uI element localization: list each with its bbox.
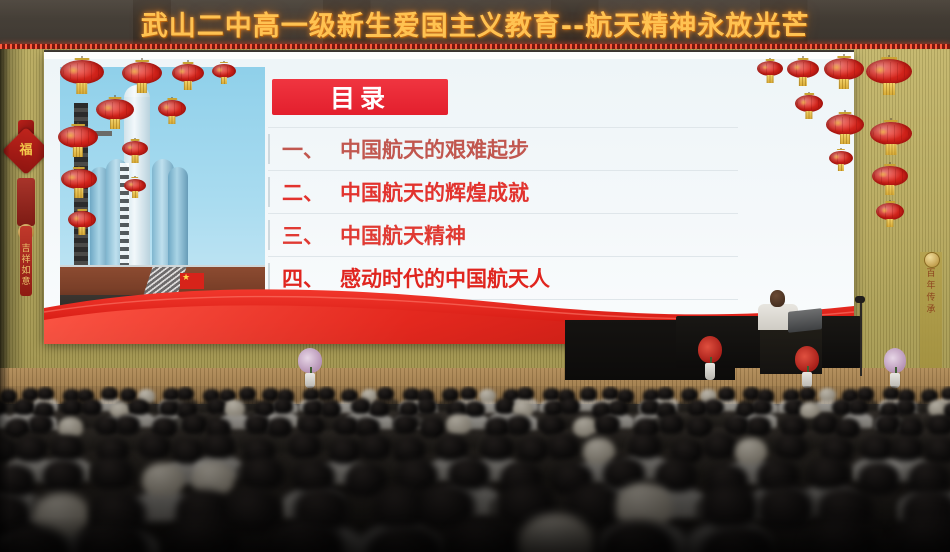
audience-head bbox=[442, 388, 459, 401]
list-item-number: 三、 bbox=[282, 220, 324, 250]
audience-head bbox=[28, 414, 53, 434]
chinese-knot-fu-icon: 福 吉祥如意 bbox=[4, 116, 48, 336]
slide-title: 目录 bbox=[330, 79, 390, 115]
audience-head bbox=[14, 399, 34, 415]
event-banner: 武山二中高一级新生爱国主义教育--航天精神永放光芒 bbox=[0, 0, 950, 47]
audience-member bbox=[804, 518, 878, 552]
audience-head bbox=[289, 433, 321, 459]
audience-head bbox=[804, 518, 878, 552]
list-item: 三、 中国航天精神 bbox=[268, 213, 738, 256]
flower-arrangement-red-right bbox=[795, 346, 819, 388]
audience-head bbox=[506, 415, 531, 435]
list-item: 二、 中国航天的辉煌成就 bbox=[268, 170, 738, 213]
audience-member bbox=[447, 519, 521, 552]
audience-head bbox=[51, 435, 83, 461]
list-item-number: 二、 bbox=[282, 177, 324, 207]
audience-head bbox=[369, 401, 389, 417]
audience-head bbox=[519, 514, 593, 552]
audience-head bbox=[270, 520, 344, 552]
audience-head bbox=[746, 416, 771, 436]
audience-head bbox=[182, 414, 207, 434]
audience-member bbox=[367, 526, 441, 552]
audience-head bbox=[601, 521, 675, 552]
audience-head bbox=[225, 400, 245, 416]
audience-head bbox=[159, 400, 179, 416]
red-lantern bbox=[212, 61, 236, 81]
audience-member bbox=[601, 521, 675, 552]
audience-head bbox=[37, 387, 54, 400]
audience-head bbox=[273, 398, 293, 414]
wall-banner-text: 百年传承 bbox=[923, 268, 939, 316]
audience-head bbox=[139, 434, 171, 460]
audience-head bbox=[775, 434, 807, 460]
audience-member bbox=[270, 520, 344, 552]
audience-head bbox=[560, 398, 580, 414]
audience-head bbox=[393, 414, 418, 434]
audience-head bbox=[893, 514, 950, 552]
audience-head bbox=[875, 414, 900, 434]
red-lantern bbox=[876, 200, 904, 224]
audience-head bbox=[0, 399, 6, 415]
audience-member bbox=[74, 521, 148, 552]
knot-hanging-text: 吉祥如意 bbox=[19, 244, 33, 288]
red-lantern bbox=[58, 122, 98, 154]
audience-head bbox=[928, 415, 950, 435]
flower-arrangement-stage-left bbox=[298, 348, 322, 388]
audience-head bbox=[517, 387, 534, 400]
audience-head bbox=[58, 417, 83, 437]
knot-body bbox=[17, 178, 35, 226]
audience-head bbox=[377, 387, 394, 400]
list-item-label: 中国航天精神 bbox=[340, 220, 466, 250]
audience-head bbox=[861, 436, 893, 462]
audience-member bbox=[0, 526, 71, 552]
audience-head bbox=[704, 433, 736, 459]
audience-head bbox=[752, 399, 772, 415]
audience-head bbox=[896, 399, 916, 415]
red-lantern bbox=[68, 208, 96, 232]
red-lantern bbox=[870, 118, 912, 152]
audience-head bbox=[299, 416, 324, 436]
audience-head bbox=[318, 387, 335, 400]
audience-head bbox=[242, 457, 284, 490]
red-lantern bbox=[96, 95, 134, 125]
wall-banner-medallion-icon bbox=[924, 252, 940, 268]
red-lantern bbox=[122, 58, 162, 90]
audience-head bbox=[657, 387, 674, 400]
audience-head bbox=[101, 387, 118, 400]
audience-head bbox=[898, 418, 923, 438]
audience-head bbox=[0, 464, 35, 497]
audience-head bbox=[166, 514, 240, 552]
audience-member bbox=[519, 514, 593, 552]
audience-head bbox=[367, 526, 441, 552]
audience-head bbox=[540, 416, 565, 436]
audience-head bbox=[42, 459, 84, 492]
audience-head bbox=[848, 399, 868, 415]
audience-head bbox=[245, 414, 270, 434]
audience-head bbox=[74, 521, 148, 552]
list-item-label: 中国航天的辉煌成就 bbox=[340, 177, 529, 207]
list-item: 一、 中国航天的艰难起步 bbox=[268, 127, 738, 170]
audience-head bbox=[595, 414, 620, 434]
red-lantern bbox=[866, 55, 912, 91]
audience-head bbox=[446, 414, 471, 434]
audience-member bbox=[166, 514, 240, 552]
audience-head bbox=[0, 526, 71, 552]
microphone-stand bbox=[860, 300, 862, 376]
red-lantern bbox=[158, 97, 186, 121]
audience-head bbox=[941, 387, 950, 400]
audience-head bbox=[207, 398, 227, 414]
red-lantern bbox=[172, 60, 204, 86]
audience-head bbox=[580, 387, 597, 400]
audience-head bbox=[701, 526, 775, 552]
student-audience bbox=[0, 386, 950, 552]
audience-head bbox=[799, 387, 816, 400]
auditorium-scene: 武山二中高一级新生爱国主义教育--航天精神永放光芒 福 吉祥如意 百年传承 bbox=[0, 0, 950, 552]
list-item-label: 中国航天的艰难起步 bbox=[340, 134, 529, 164]
audience-head bbox=[659, 414, 684, 434]
red-lantern bbox=[787, 56, 819, 82]
audience-head bbox=[813, 414, 838, 434]
audience-head bbox=[704, 399, 724, 415]
laptop bbox=[788, 308, 822, 333]
microphone-icon bbox=[855, 296, 865, 303]
event-banner-title: 武山二中高一级新生爱国主义教育--航天精神永放光芒 bbox=[0, 2, 950, 44]
audience-head bbox=[203, 433, 235, 459]
projection-screen: 目录 一、 中国航天的艰难起步 二、 中国航天的辉煌成就 三、 中国航天精神 四… bbox=[44, 52, 854, 344]
red-lantern bbox=[872, 162, 908, 191]
flower-arrangement-red-left bbox=[698, 336, 722, 380]
red-lantern bbox=[824, 54, 864, 86]
audience-head bbox=[62, 399, 82, 415]
audience-head bbox=[239, 387, 256, 400]
red-lantern bbox=[61, 165, 97, 195]
audience-head bbox=[417, 398, 437, 414]
speaker-head bbox=[770, 290, 785, 307]
red-lantern bbox=[826, 110, 864, 140]
audience-head bbox=[808, 457, 850, 490]
audience-head bbox=[129, 399, 149, 415]
audience-member bbox=[893, 514, 950, 552]
list-item-number: 一、 bbox=[282, 134, 324, 164]
audience-member bbox=[701, 526, 775, 552]
audience-head bbox=[891, 436, 923, 462]
red-lantern bbox=[829, 148, 853, 169]
flower-arrangement-pale-right bbox=[884, 348, 906, 388]
audience-head bbox=[925, 437, 950, 463]
red-lantern bbox=[795, 92, 823, 116]
audience-head bbox=[177, 387, 194, 400]
knot-fu-character: 福 bbox=[16, 142, 36, 160]
audience-head bbox=[835, 418, 860, 438]
red-lantern bbox=[124, 176, 146, 195]
slide-title-box: 目录 bbox=[272, 79, 448, 115]
red-lantern bbox=[757, 58, 783, 80]
audience-head bbox=[359, 434, 391, 460]
audience-head bbox=[82, 399, 102, 415]
audience-head bbox=[460, 387, 477, 400]
red-lantern bbox=[122, 138, 148, 160]
audience-head bbox=[547, 434, 579, 460]
audience-head bbox=[115, 415, 140, 435]
audience-head bbox=[702, 484, 758, 529]
audience-head bbox=[447, 519, 521, 552]
audience-head bbox=[92, 457, 134, 490]
audience-head bbox=[629, 433, 661, 459]
red-lantern bbox=[60, 56, 104, 90]
